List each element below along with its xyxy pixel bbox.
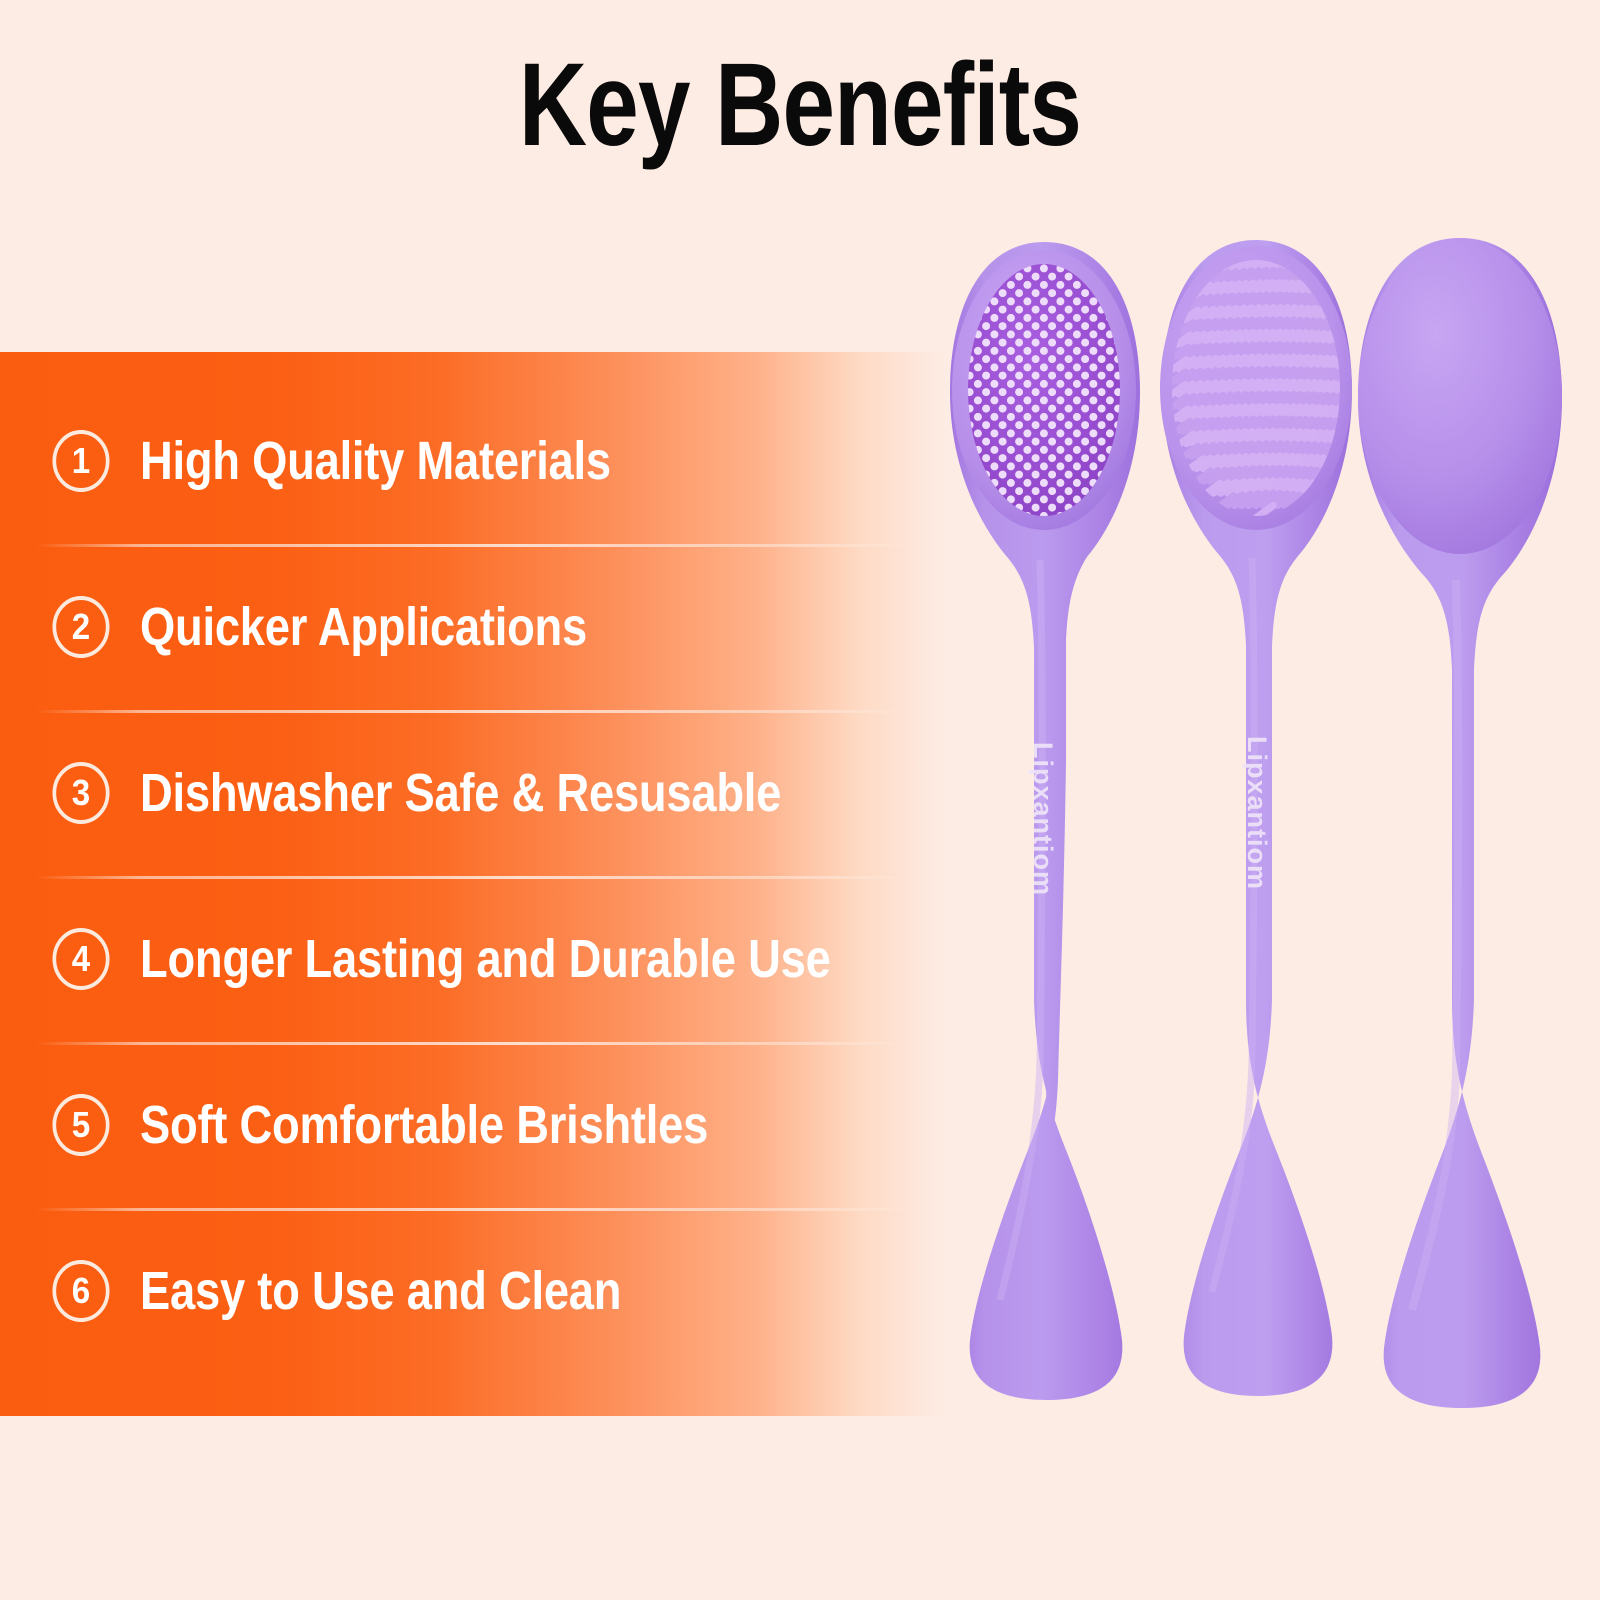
benefit-row-2[interactable]: 2 Quicker Applications: [0, 544, 945, 710]
benefit-number-4: 4: [52, 928, 109, 990]
benefit-label-3: Dishwasher Safe & Resusable: [140, 762, 781, 824]
benefit-row-4[interactable]: 4 Longer Lasting and Durable Use: [0, 876, 945, 1042]
benefit-row-5[interactable]: 5 Soft Comfortable Brishtles: [0, 1042, 945, 1208]
benefit-label-5: Soft Comfortable Brishtles: [140, 1094, 708, 1156]
benefit-row-1[interactable]: 1 High Quality Materials: [0, 378, 945, 544]
bristle-strokes: [1172, 246, 1354, 519]
benefit-number-2: 2: [52, 596, 109, 658]
benefit-row-6[interactable]: 6 Easy to Use and Clean: [0, 1208, 945, 1374]
benefit-number-3: 3: [52, 762, 109, 824]
benefit-label-6: Easy to Use and Clean: [140, 1260, 621, 1322]
infographic-canvas: Key Benefits: [0, 0, 1600, 1600]
benefit-number-6: 6: [52, 1260, 109, 1322]
applicator-head: [1358, 238, 1562, 554]
bristle-dots: [960, 256, 1130, 526]
brush-head-1: [952, 250, 1136, 530]
benefit-number-5: 5: [52, 1094, 109, 1156]
product-smooth-applicator: [1358, 238, 1562, 1408]
brand-label-product-1: Lipxantiom: [1027, 742, 1058, 896]
brush-head-2: [1160, 246, 1352, 530]
brand-label-product-2: Lipxantiom: [1241, 736, 1272, 890]
benefit-number-1: 1: [52, 430, 109, 492]
benefits-list: 1 High Quality Materials 2 Quicker Appli…: [0, 352, 945, 1416]
benefit-row-3[interactable]: 3 Dishwasher Safe & Resusable: [0, 710, 945, 876]
benefit-label-2: Quicker Applications: [140, 596, 587, 658]
benefit-label-4: Longer Lasting and Durable Use: [140, 928, 831, 990]
page-title: Key Benefits: [160, 46, 1440, 164]
benefit-label-1: High Quality Materials: [140, 430, 611, 492]
